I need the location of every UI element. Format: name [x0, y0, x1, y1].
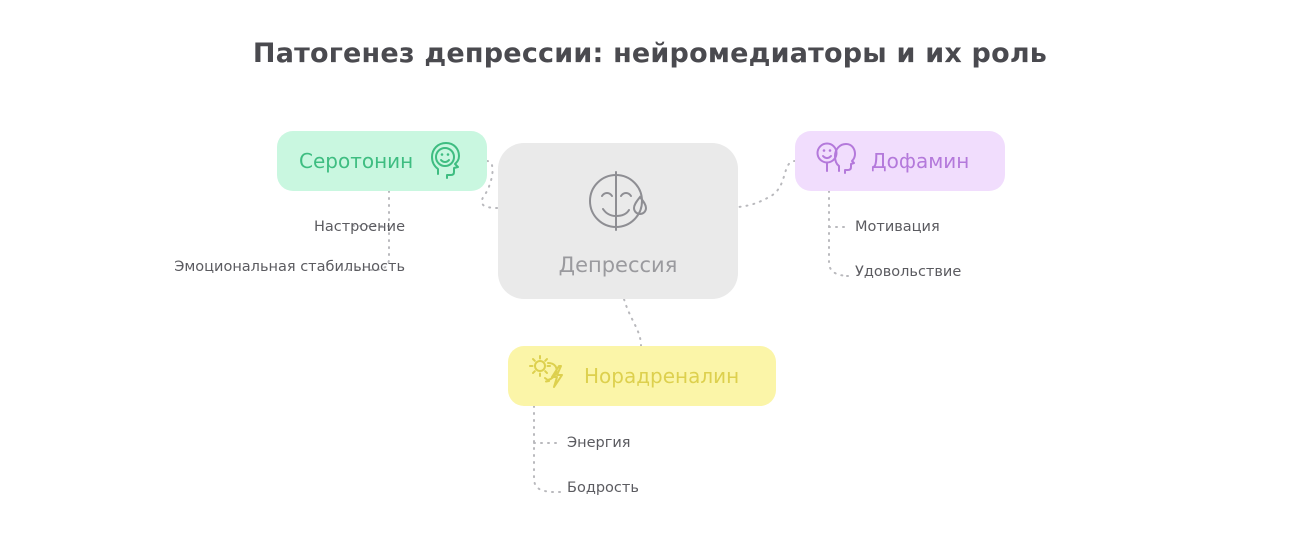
node-noradrenaline-label: Норадреналин	[584, 364, 739, 388]
node-dopamine[interactable]: Дофамин	[795, 131, 1005, 191]
sub-label-dopamine-motivation: Мотивация	[855, 219, 940, 235]
page-title: Патогенез депрессии: нейромедиаторы и их…	[0, 38, 1300, 69]
split-happy-sad-face-icon	[581, 165, 655, 243]
sub-label-noradrenaline-vigor: Бодрость	[567, 480, 639, 496]
smiley-head-profile-icon	[813, 138, 857, 184]
sub-label-serotonin-mood: Настроение	[150, 219, 405, 235]
central-node-label: Депрессия	[559, 253, 678, 277]
sub-label-noradrenaline-energy: Энергия	[567, 435, 631, 451]
connector-dopamine-to-central	[738, 161, 795, 207]
node-noradrenaline[interactable]: Норадреналин	[508, 346, 776, 406]
node-serotonin[interactable]: Серотонин	[277, 131, 487, 191]
sub-label-serotonin-stability: Эмоциональная стабильность	[150, 259, 405, 275]
connector-noradrenaline-to-central	[624, 299, 641, 346]
central-node-depression[interactable]: Депрессия	[498, 143, 738, 299]
node-dopamine-label: Дофамин	[871, 149, 969, 173]
sun-lightning-icon	[526, 353, 570, 399]
head-with-face-icon	[425, 138, 467, 184]
diagram-canvas: Патогенез депрессии: нейромедиаторы и их…	[0, 0, 1300, 546]
connector-dopamine-sub-spine	[829, 191, 847, 276]
sub-label-dopamine-pleasure: Удовольствие	[855, 264, 961, 280]
node-serotonin-label: Серотонин	[299, 149, 413, 173]
connector-noradrenaline-sub-spine	[534, 406, 552, 492]
